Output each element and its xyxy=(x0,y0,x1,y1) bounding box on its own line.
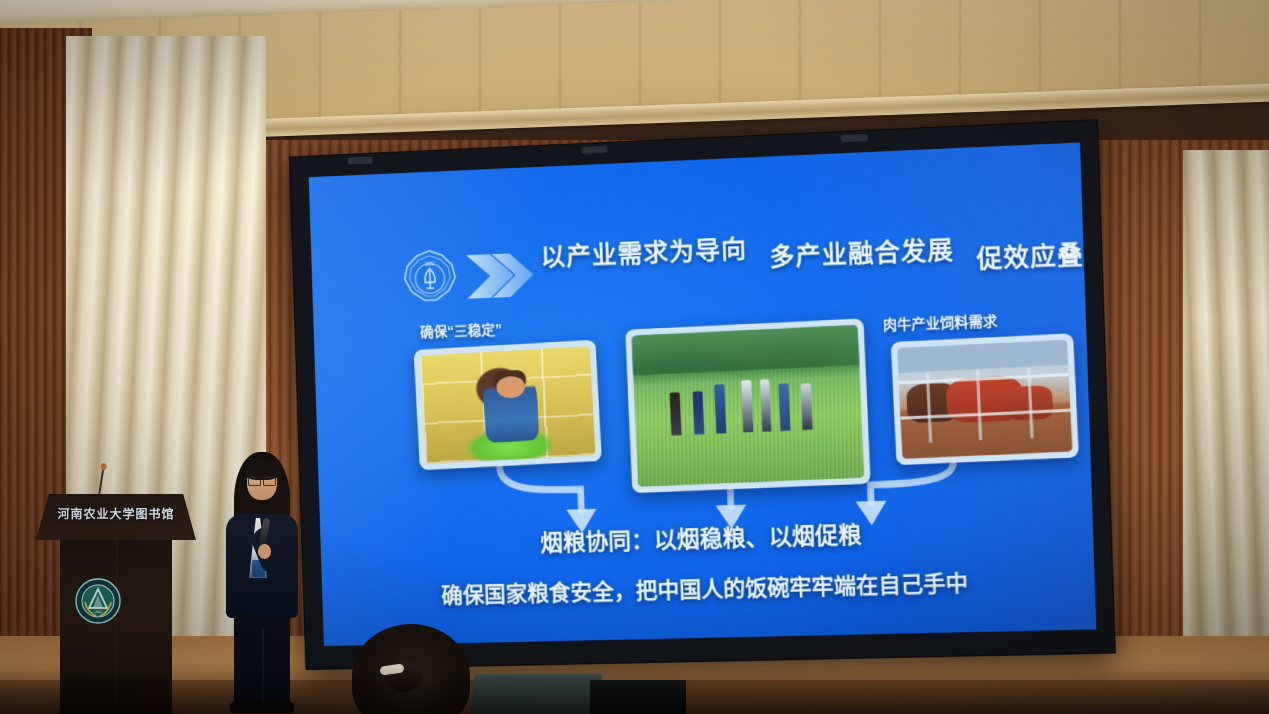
headline-part-3: 促效应叠加增效 xyxy=(976,232,1096,276)
foreground-shadow xyxy=(0,668,1269,714)
slide-conclusion-line-2: 确保国家粮食安全，把中国人的饭碗牢牢端在自己手中 xyxy=(441,565,969,610)
caption-left: 确保“三稳定” xyxy=(420,319,502,342)
rice-field-photo-art xyxy=(631,325,864,487)
field-person xyxy=(715,384,727,433)
field-person xyxy=(778,383,790,431)
university-seal-icon: 1902 xyxy=(75,578,121,624)
tobacco-photo-art xyxy=(420,346,596,464)
headline-part-2: 多产业融合发展 xyxy=(769,230,955,274)
caption-right: 肉牛产业饲料需求 xyxy=(883,311,998,335)
field-person xyxy=(670,392,682,435)
svg-text:1902: 1902 xyxy=(94,610,102,614)
bezel-mount-tab xyxy=(581,146,607,154)
presentation-slide: 1902 xyxy=(309,142,1097,646)
led-display-screen[interactable]: 1902 xyxy=(289,119,1116,670)
rice-field-photo[interactable] xyxy=(625,318,871,493)
field-person xyxy=(692,391,704,434)
field-person xyxy=(760,379,772,431)
tobacco-sorting-photo[interactable] xyxy=(414,340,602,471)
presenter-hand xyxy=(258,544,271,559)
headline-part-1: 以产业需求为导向 xyxy=(540,230,748,274)
slide-headline: 以产业需求为导向 多产业融合发展 促效应叠加增效 xyxy=(540,215,1096,293)
field-person xyxy=(801,384,813,430)
slide-conclusion-line-1: 烟粮协同：以烟稳粮、以烟促粮 xyxy=(540,515,862,558)
double-chevron-icon xyxy=(464,250,538,300)
screen-surface: 1902 xyxy=(309,142,1097,646)
bezel-mount-tab xyxy=(348,157,373,165)
university-tree-emblem-icon: 1902 xyxy=(402,248,458,305)
field-person xyxy=(742,380,754,432)
svg-text:1902: 1902 xyxy=(424,261,435,266)
presentation-photo: 1902 xyxy=(0,0,1269,714)
background-hills xyxy=(631,325,859,375)
bezel-mount-tab xyxy=(841,134,868,142)
cattle-feedlot-photo[interactable] xyxy=(891,333,1079,465)
stage-curtain-right xyxy=(1183,150,1269,714)
eyeglasses-icon xyxy=(248,476,276,484)
podium-venue-label: 河南农业大学图书馆 xyxy=(36,505,196,522)
cattle-photo-art xyxy=(897,340,1072,459)
